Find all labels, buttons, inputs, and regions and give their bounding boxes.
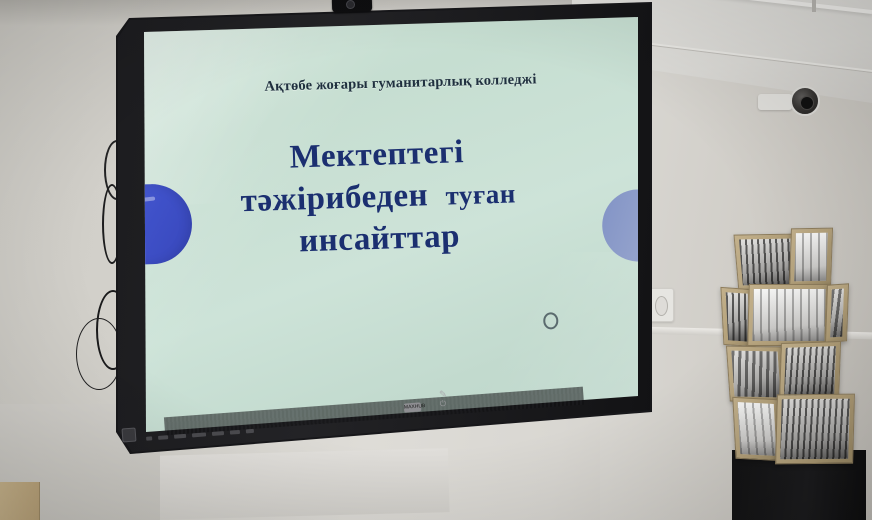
photo-frame <box>825 283 849 343</box>
port-3 <box>174 434 186 439</box>
camera-lens <box>800 96 814 110</box>
frame-photo <box>752 289 825 341</box>
photo-frame <box>789 228 833 287</box>
power-icon[interactable]: ⏻ <box>438 399 449 410</box>
port-6 <box>230 430 240 435</box>
scene-root: Ақтөбе жоғары гуманитарлық колледжі Мект… <box>0 0 872 520</box>
slide-ring-icon <box>543 312 559 329</box>
security-camera-icon <box>790 86 824 116</box>
port-4 <box>192 432 206 437</box>
port-7 <box>246 429 254 434</box>
frame-photo <box>739 239 795 286</box>
display-screen[interactable]: Ақтөбе жоғары гуманитарлық колледжі Мект… <box>104 2 656 454</box>
slide-title-word-tazhiribeden: тәжірибеден <box>240 177 429 219</box>
photo-frame <box>779 341 841 401</box>
frame-photo <box>780 399 850 460</box>
photo-frame <box>747 284 831 346</box>
frame-photo <box>738 402 777 456</box>
port-5 <box>212 431 224 436</box>
slide-title: Мектептегі тәжірибеден туған инсайттар <box>141 126 615 268</box>
wall-panel-bottom-left <box>148 448 450 520</box>
ceiling-rail <box>812 0 816 12</box>
display-io-port[interactable] <box>122 428 137 443</box>
display-camera-lens-icon <box>346 0 355 9</box>
frame-photo <box>784 346 836 396</box>
frame-photo <box>731 351 780 398</box>
camera-dome <box>790 86 820 116</box>
port-2 <box>158 435 168 440</box>
interactive-display[interactable]: Ақтөбе жоғары гуманитарлық колледжі Мект… <box>104 2 656 454</box>
wood-trim-edge <box>0 482 40 520</box>
photo-frame-stand <box>718 222 870 520</box>
port-1 <box>146 436 152 440</box>
slide-title-word-tugan: туған <box>445 179 516 211</box>
display-brand-logo: MAXHUB <box>404 402 422 412</box>
socket-hole <box>655 296 668 316</box>
frame-photo <box>830 289 844 338</box>
presentation-slide: Ақтөбе жоғары гуманитарлық колледжі Мект… <box>104 2 656 454</box>
frame-photo <box>794 233 828 282</box>
photo-frame <box>732 397 781 461</box>
camera-mount <box>758 94 792 110</box>
slide-subtitle: Ақтөбе жоғары гуманитарлық колледжі <box>225 70 575 96</box>
display-camera-module <box>332 0 372 13</box>
photo-frame <box>775 394 855 465</box>
